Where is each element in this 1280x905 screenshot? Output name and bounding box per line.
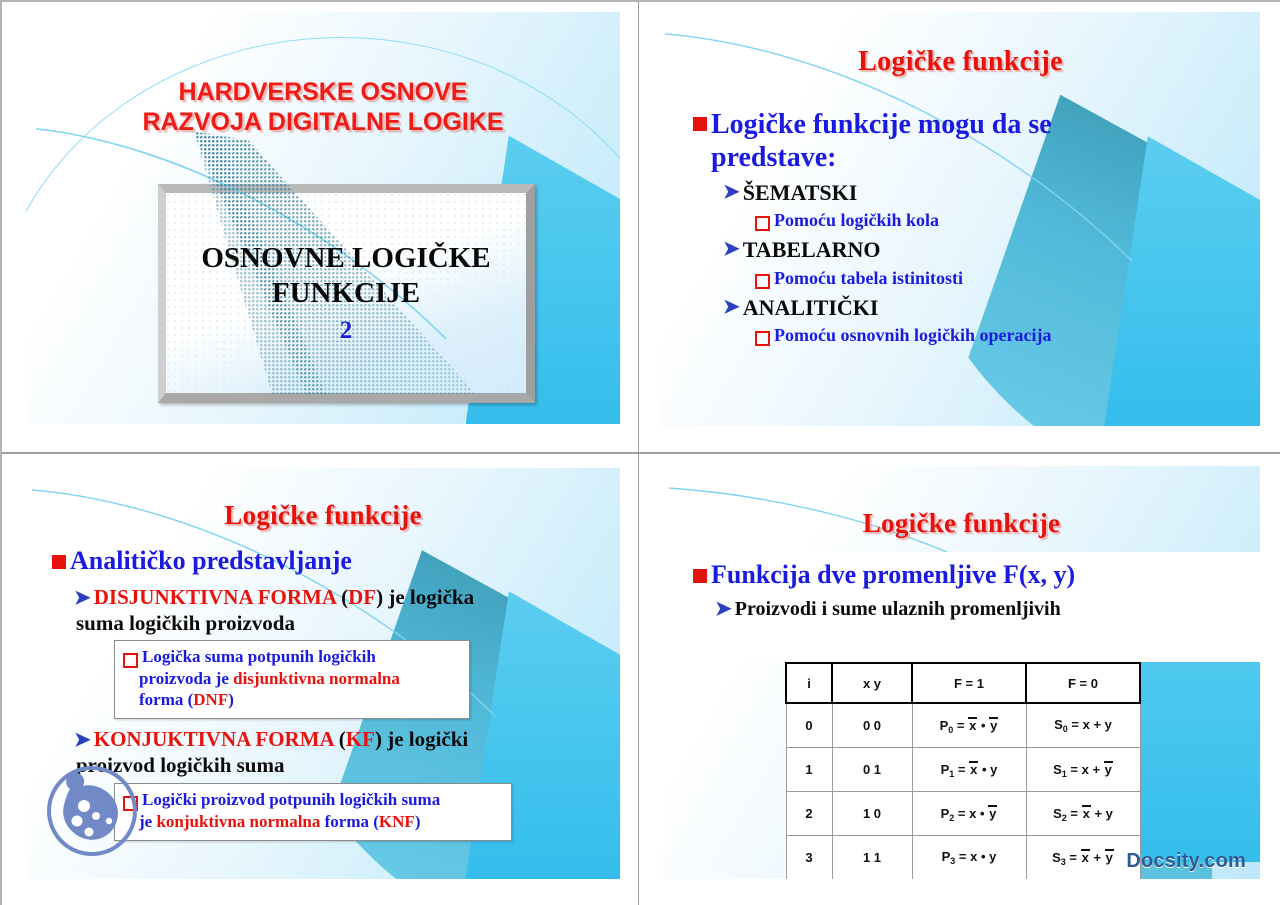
arrow-bullet-icon: ➤: [723, 237, 740, 262]
cell-i: 1: [786, 748, 832, 792]
cell-sum: S1 = x + y: [1026, 748, 1140, 792]
th-i: i: [786, 663, 832, 703]
open-square-bullet-icon: [755, 331, 770, 346]
cell-product: P1 = x • y: [912, 748, 1026, 792]
df-note-text3a: forma (: [139, 690, 193, 709]
df-note-text3c: ): [228, 690, 234, 709]
bullet-level1-label: Analitičko predstavljanje: [70, 546, 352, 577]
arrow-bullet-icon: ➤: [715, 597, 732, 622]
bullet-level2-label: TABELARNO: [743, 237, 881, 263]
slide-canvas: Logičke funkcije Logičke funkcije mogu d…: [661, 12, 1260, 426]
frame-title: OSNOVNE LOGIČKE FUNKCIJE: [201, 241, 490, 312]
bullet-level2: ➤ Proizvodi i sume ulaznih promenljivih: [715, 597, 1250, 622]
slide1-heading: HARDVERSKE OSNOVE RAZVOJA DIGITALNE LOGI…: [26, 78, 620, 137]
bullet-level3: Pomoću tabela istinitosti: [755, 268, 1248, 290]
bullet-level1-label: Logičke funkcije mogu da se predstave:: [711, 108, 1113, 174]
th-f1: F = 1: [912, 663, 1026, 703]
kf-line2: proizvod logičkih suma: [76, 753, 610, 778]
square-bullet-icon: [693, 569, 707, 583]
kf-note-text2d: KNF: [379, 812, 415, 831]
bullet-level3: Pomoću osnovnih logičkih operacija: [755, 325, 1248, 347]
slide-title[interactable]: HARDVERSKE OSNOVE RAZVOJA DIGITALNE LOGI…: [2, 2, 638, 452]
slide-grid: HARDVERSKE OSNOVE RAZVOJA DIGITALNE LOGI…: [2, 2, 1278, 903]
table-row: 21 0P2 = x • yS2 = x + y: [786, 792, 1140, 836]
frame-number: 2: [340, 317, 353, 345]
cell-sum: S3 = x + y: [1026, 836, 1140, 880]
bullet-level1: Logičke funkcije mogu da se predstave:: [693, 108, 1113, 174]
bullet-level2: ➤ ŠEMATSKI: [723, 180, 1248, 206]
slide4-body: Funkcija dve promenljive F(x, y) ➤ Proiz…: [693, 560, 1250, 622]
cell-xy: 0 1: [832, 748, 912, 792]
cell-sum: S2 = x + y: [1026, 792, 1140, 836]
truth-table-wrap: i x y F = 1 F = 0 00 0P0 = x • yS0 = x +…: [785, 662, 1141, 879]
slide-analiticko[interactable]: Logičke funkcije Analitičko predstavljan…: [2, 454, 638, 905]
df-note-text3b: DNF: [193, 690, 228, 709]
open-square-bullet-icon: [123, 653, 138, 668]
df-note-text1: Logička suma potpunih logičkih: [142, 647, 376, 668]
bullet-level2-label: ANALITIČKI: [743, 295, 879, 321]
kf-note-text2c: forma (: [320, 812, 379, 831]
bullet-level3-label: Pomoću osnovnih logičkih operacija: [774, 325, 1052, 347]
cell-xy: 1 0: [832, 792, 912, 836]
kf-note-box: Logički proizvod potpunih logičkih suma …: [114, 783, 512, 841]
cell-xy: 0 0: [832, 703, 912, 748]
slide-tabela[interactable]: Logičke funkcije Funkcija dve promenljiv…: [639, 454, 1280, 905]
bullet-level2: ➤ TABELARNO: [723, 237, 1248, 263]
bullet-level2-kf: ➤KONJUKTIVNA FORMA (KF) je logički proiz…: [74, 727, 610, 778]
th-xy: x y: [832, 663, 912, 703]
square-bullet-icon: [693, 117, 707, 131]
kf-paren-open: (: [334, 727, 346, 751]
slide2-body: Logičke funkcije mogu da se predstave: ➤…: [693, 108, 1248, 347]
kf-tail: ) je logički: [375, 727, 468, 751]
df-tail: ) je logička: [376, 585, 474, 609]
bullet-level1: Funkcija dve promenljive F(x, y): [693, 560, 1250, 591]
df-note-box: Logička suma potpunih logičkih proizvoda…: [114, 640, 470, 720]
cell-product: P0 = x • y: [912, 703, 1026, 748]
bullet-level3-label: Pomoću logičkih kola: [774, 210, 939, 232]
truth-table-body: 00 0P0 = x • yS0 = x + y10 1P1 = x • yS1…: [786, 703, 1140, 879]
slide2-title: Logičke funkcije: [661, 46, 1260, 78]
truth-table: i x y F = 1 F = 0 00 0P0 = x • yS0 = x +…: [785, 662, 1141, 879]
kf-red-head: KONJUKTIVNA FORMA: [94, 727, 334, 751]
slide1-heading-line1: HARDVERSKE OSNOVE: [26, 78, 620, 108]
df-note-line1: Logička suma potpunih logičkih: [123, 647, 461, 668]
cell-i: 0: [786, 703, 832, 748]
df-red-head: DISJUNKTIVNA FORMA: [94, 585, 336, 609]
frame-title-line1: OSNOVNE LOGIČKE: [201, 241, 490, 276]
title-frame-text: OSNOVNE LOGIČKE FUNKCIJE 2: [166, 193, 526, 393]
bullet-level1: Analitičko predstavljanje: [52, 546, 610, 577]
df-line2: suma logičkih proizvoda: [76, 611, 610, 636]
open-square-bullet-icon: [755, 216, 770, 231]
df-paren-open: (: [336, 585, 348, 609]
df-note-text2b: disjunktivna normalna: [233, 669, 400, 688]
df-note-line3: forma (DNF): [139, 689, 461, 710]
kf-note-line1: Logički proizvod potpunih logičkih suma: [123, 790, 503, 811]
slide4-title: Logičke funkcije: [663, 508, 1260, 539]
bullet-level1-label: Funkcija dve promenljive F(x, y): [711, 560, 1075, 591]
slide-canvas: HARDVERSKE OSNOVE RAZVOJA DIGITALNE LOGI…: [26, 12, 620, 424]
open-square-bullet-icon: [755, 274, 770, 289]
bullet-level3-label: Pomoću tabela istinitosti: [774, 268, 963, 290]
slide3-title: Logičke funkcije: [26, 500, 620, 531]
cell-i: 3: [786, 836, 832, 880]
bullet-level2: ➤ ANALITIČKI: [723, 295, 1248, 321]
slide-handout-page: HARDVERSKE OSNOVE RAZVOJA DIGITALNE LOGI…: [0, 0, 1280, 905]
th-f0: F = 0: [1026, 663, 1140, 703]
slide-canvas: Logičke funkcije Funkcija dve promenljiv…: [663, 466, 1260, 879]
slide-canvas: Logičke funkcije Analitičko predstavljan…: [26, 468, 620, 879]
df-note-line2: proizvoda je disjunktivna normalna: [139, 668, 461, 689]
kf-note-text2b: konjuktivna normalna: [156, 812, 320, 831]
kf-note-text1: Logički proizvod potpunih logičkih suma: [142, 790, 440, 811]
square-bullet-icon: [52, 555, 66, 569]
kf-note-line2: je konjuktivna normalna forma (KNF): [139, 811, 503, 832]
df-abbr: DF: [348, 585, 376, 609]
arrow-bullet-icon: ➤: [723, 180, 740, 205]
arrow-bullet-icon: ➤: [74, 587, 91, 609]
cell-i: 2: [786, 792, 832, 836]
docsity-watermark: Docsity.com: [1126, 850, 1246, 873]
table-header-row: i x y F = 1 F = 0: [786, 663, 1140, 703]
arrow-bullet-icon: ➤: [74, 729, 91, 751]
cell-sum: S0 = x + y: [1026, 703, 1140, 748]
slide-predstavljanje[interactable]: Logičke funkcije Logičke funkcije mogu d…: [639, 2, 1280, 452]
table-row: 10 1P1 = x • yS1 = x + y: [786, 748, 1140, 792]
title-frame-box: OSNOVNE LOGIČKE FUNKCIJE 2: [158, 184, 535, 403]
cell-xy: 1 1: [832, 836, 912, 880]
cell-product: P2 = x • y: [912, 792, 1026, 836]
arrow-bullet-icon: ➤: [723, 295, 740, 320]
table-row: 00 0P0 = x • yS0 = x + y: [786, 703, 1140, 748]
table-row: 31 1P3 = x • yS3 = x + y: [786, 836, 1140, 880]
docsity-cookie-logo-icon: [42, 761, 142, 861]
kf-note-text2e: ): [415, 812, 421, 831]
slide1-heading-line2: RAZVOJA DIGITALNE LOGIKE: [26, 108, 620, 138]
frame-title-line2: FUNKCIJE: [201, 276, 490, 311]
kf-abbr: KF: [346, 727, 375, 751]
df-note-text2a: proizvoda je: [139, 669, 233, 688]
bullet-level2-df: ➤DISJUNKTIVNA FORMA (DF) je logička suma…: [74, 585, 610, 636]
bullet-level2-label: ŠEMATSKI: [743, 180, 858, 206]
bullet-level3: Pomoću logičkih kola: [755, 210, 1248, 232]
bullet-level2-label: Proizvodi i sume ulaznih promenljivih: [735, 597, 1061, 621]
cell-product: P3 = x • y: [912, 836, 1026, 880]
